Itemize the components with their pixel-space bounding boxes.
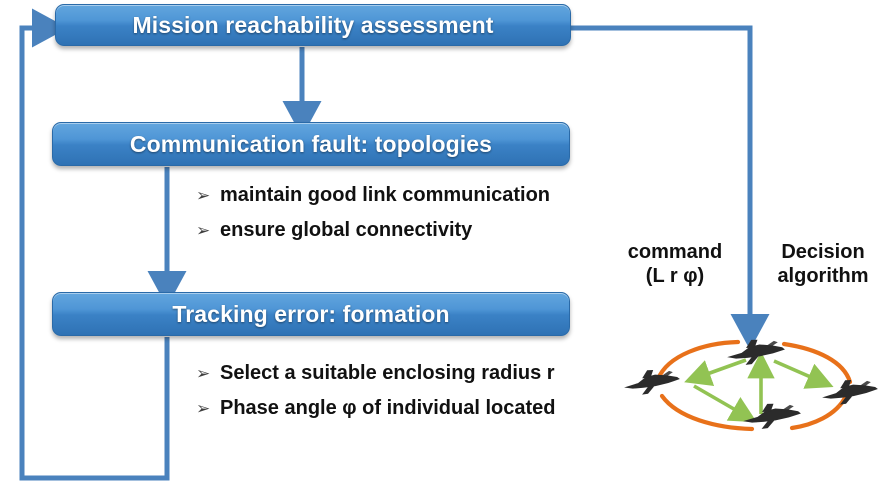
- list-item-label: Phase angle φ of individual located: [220, 397, 556, 420]
- box-label-communication: Communication fault: topologies: [130, 131, 492, 158]
- list-item-label: maintain good link communication: [220, 184, 550, 207]
- bullet-list-communication: ➢ maintain good link communication ➢ ens…: [196, 184, 550, 254]
- arrow-bullet-icon: ➢: [196, 365, 220, 382]
- ellipse-arc-bottom-right: [792, 396, 846, 428]
- aircraft-group: [622, 336, 879, 431]
- link-top-to-right: [774, 361, 822, 382]
- diagram-canvas: Mission reachability assessment Communic…: [0, 0, 893, 498]
- annotation-decision-algorithm: Decision algorithm: [762, 240, 884, 288]
- formation-illustration: [606, 330, 893, 440]
- list-item: ➢ Phase angle φ of individual located: [196, 397, 556, 420]
- list-item: ➢ maintain good link communication: [196, 184, 550, 207]
- link-top-to-left: [696, 360, 746, 378]
- arrow-bullet-icon: ➢: [196, 187, 220, 204]
- aircraft-right: [820, 376, 879, 407]
- list-item: ➢ Select a suitable enclosing radius r: [196, 362, 556, 385]
- process-box-mission-reachability[interactable]: Mission reachability assessment: [55, 4, 571, 46]
- aircraft-left: [622, 366, 681, 397]
- list-item: ➢ ensure global connectivity: [196, 219, 550, 242]
- bullet-list-tracking: ➢ Select a suitable enclosing radius r ➢…: [196, 362, 556, 432]
- process-box-tracking-error[interactable]: Tracking error: formation: [52, 292, 570, 336]
- agent-link-arrows: [694, 360, 822, 416]
- link-left-to-bottom: [694, 386, 746, 416]
- ellipse-arc-top-right: [784, 344, 850, 382]
- list-item-label: Select a suitable enclosing radius r: [220, 362, 555, 385]
- list-item-label: ensure global connectivity: [220, 219, 472, 242]
- connector-feedback-loop: [22, 28, 167, 478]
- process-box-communication-fault[interactable]: Communication fault: topologies: [52, 122, 570, 166]
- annotation-command: command (L r φ): [612, 240, 738, 288]
- arrow-bullet-icon: ➢: [196, 400, 220, 417]
- arrow-bullet-icon: ➢: [196, 222, 220, 239]
- box-label-tracking: Tracking error: formation: [172, 301, 449, 328]
- box-label-mission: Mission reachability assessment: [132, 12, 493, 39]
